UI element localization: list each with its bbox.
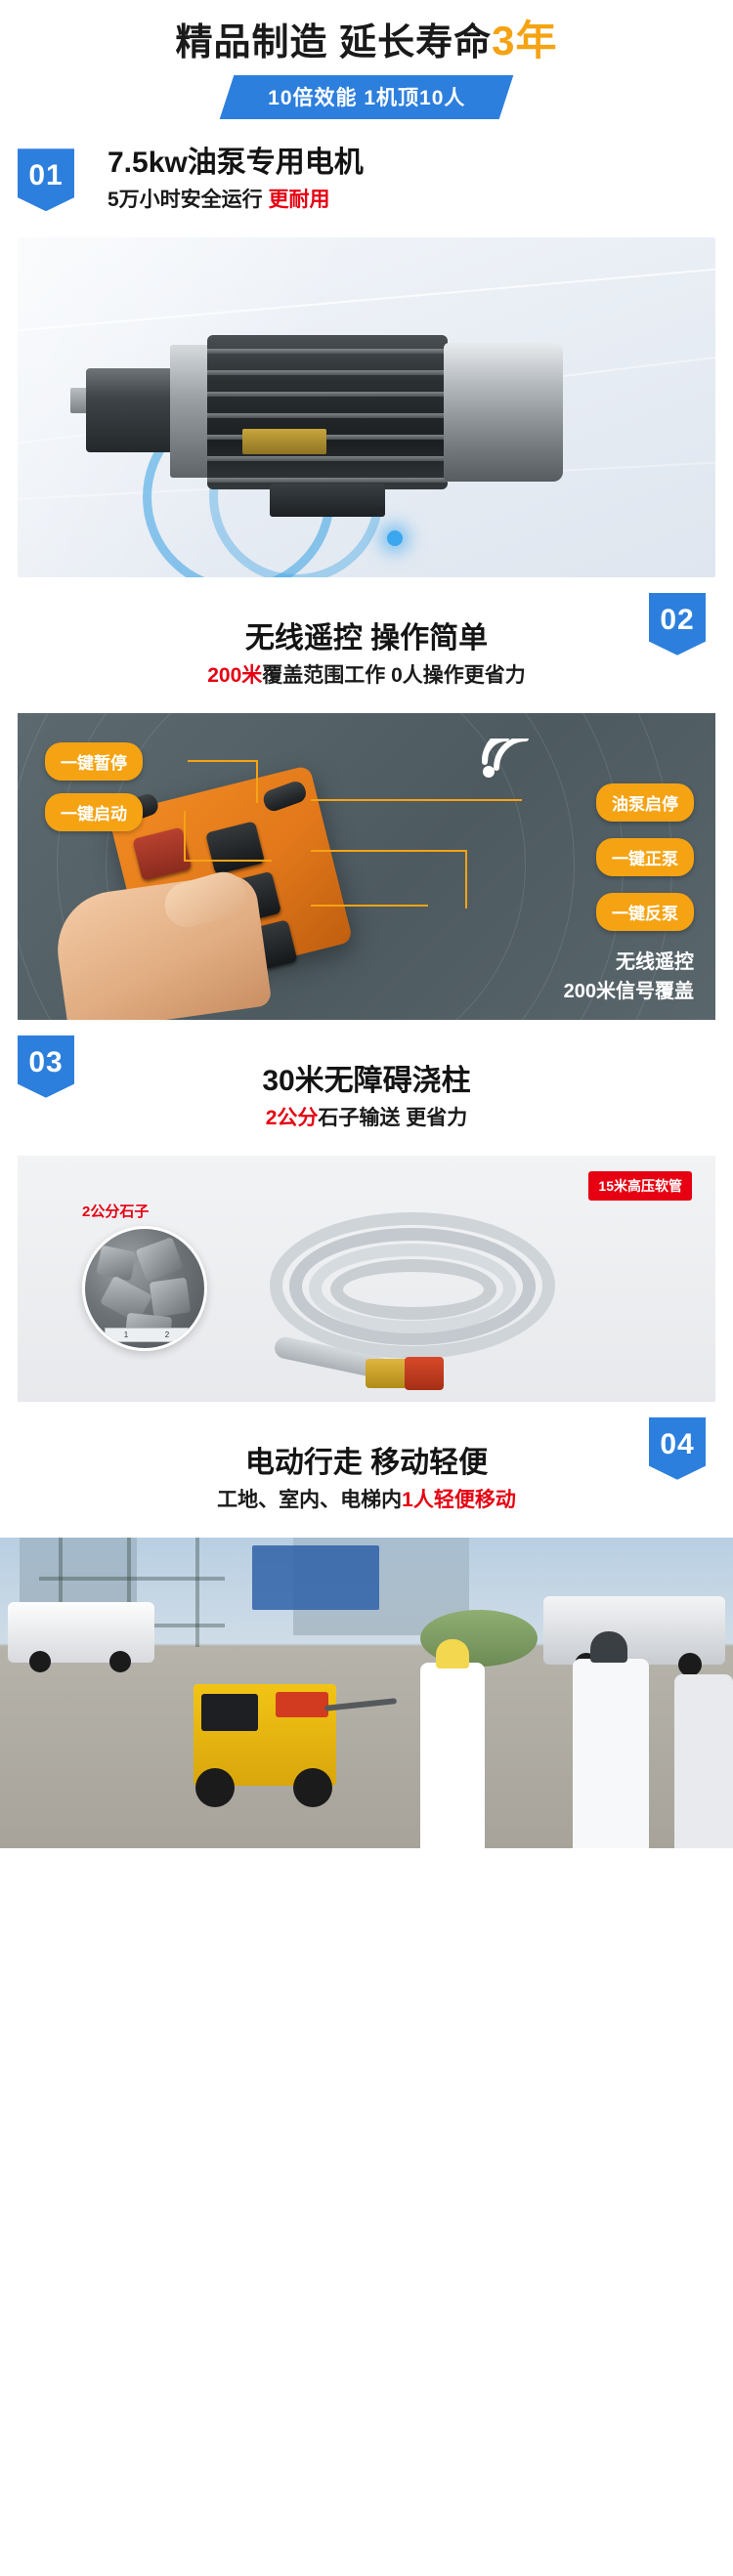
section-03-badge-number: 03 <box>28 1046 63 1079</box>
stone-sample-photo: 1 2 <box>82 1226 207 1351</box>
section-03-badge: 03 <box>18 1035 74 1098</box>
hose-coupling-red <box>405 1357 444 1390</box>
section-01-text: 7.5kw油泵专用电机 5万小时安全运行 更耐用 <box>108 145 364 216</box>
callout-leader-line <box>311 905 428 907</box>
page-header: 精品制造 延长寿命3年 10倍效能 1机顶10人 <box>0 0 733 119</box>
section-04-photo <box>0 1538 733 1848</box>
worker-figure <box>674 1674 733 1848</box>
header-ribbon-label: 10倍效能 1机顶10人 <box>268 82 465 111</box>
header-ribbon: 10倍效能 1机顶10人 <box>220 75 514 119</box>
section-02-title: 无线遥控 操作简单 <box>245 620 488 657</box>
section-03-text: 30米无障碍浇柱 2公分石子输送 更省力 <box>262 1063 470 1134</box>
motor-nameplate <box>242 429 326 454</box>
page-title-main: 精品制造 延长寿命 <box>176 22 493 63</box>
machine-wheel <box>195 1768 235 1807</box>
product-detail-page: 精品制造 延长寿命3年 10倍效能 1机顶10人 01 7.5kw油泵专用电机 … <box>0 0 733 1848</box>
worker-helmet <box>436 1639 469 1668</box>
van-wheel <box>29 1651 51 1672</box>
motor-flange <box>170 345 211 478</box>
section-02: 02 无线遥控 操作简单 200米覆盖范围工作 0人操作更省力 <box>0 595 733 1037</box>
corner-note-line1: 无线遥控 <box>564 948 694 977</box>
section-01-badge-number: 01 <box>28 159 63 192</box>
section-02-head: 02 无线遥控 操作简单 200米覆盖范围工作 0人操作更省力 <box>0 595 733 705</box>
callout-leader-line <box>465 850 467 908</box>
section-02-sub-plain: 覆盖范围工作 0人操作更省力 <box>262 664 526 687</box>
callout-leader-line <box>188 760 258 762</box>
parked-van <box>8 1602 154 1663</box>
section-03-title: 30米无障碍浇柱 <box>262 1063 470 1100</box>
section-02-photo: 一键暂停 一键启动 油泵启停 一键正泵 一键反泵 无线遥控 200米信号覆盖 <box>18 713 715 1020</box>
section-03: 03 30米无障碍浇柱 2公分石子输送 更省力 2公分石子 1 2 <box>0 1037 733 1419</box>
remote-key-pump-toggle[interactable] <box>205 821 265 874</box>
callout-leader-line <box>184 860 272 862</box>
worker-figure <box>420 1663 485 1848</box>
machine-hopper <box>201 1694 258 1731</box>
stone-label: 2公分石子 <box>82 1201 149 1221</box>
section-04: 04 电动行走 移动轻便 工地、室内、电梯内1人轻便移动 <box>0 1419 733 1848</box>
section-04-head: 04 电动行走 移动轻便 工地、室内、电梯内1人轻便移动 <box>0 1419 733 1530</box>
section-04-subtitle: 工地、室内、电梯内1人轻便移动 <box>217 1485 516 1516</box>
antenna-mount-icon <box>261 779 309 814</box>
callout-pump-toggle: 油泵启停 <box>596 783 694 822</box>
section-01-photo <box>18 237 715 577</box>
section-01-subtitle: 5万小时安全运行 更耐用 <box>108 185 364 216</box>
section-02-text: 无线遥控 操作简单 200米覆盖范围工作 0人操作更省力 <box>207 620 526 692</box>
callout-reverse-pump: 一键反泵 <box>596 893 694 931</box>
car-wheel <box>678 1653 702 1676</box>
callout-leader-line <box>311 850 467 852</box>
section-04-text: 电动行走 移动轻便 工地、室内、电梯内1人轻便移动 <box>217 1445 516 1516</box>
ruler-mark: 1 <box>124 1330 128 1339</box>
section-04-sub-highlight: 1人轻便移动 <box>402 1489 516 1511</box>
motor-mount-foot <box>270 484 385 517</box>
section-04-title: 电动行走 移动轻便 <box>245 1445 488 1482</box>
hose-coil <box>330 1259 496 1320</box>
section-02-corner-note: 无线遥控 200米信号覆盖 <box>564 948 694 1006</box>
ruler-scale: 1 2 <box>105 1328 189 1342</box>
callout-forward-pump: 一键正泵 <box>596 838 694 876</box>
section-03-photo: 2公分石子 1 2 15米高压软管 <box>18 1156 715 1402</box>
section-03-subtitle: 2公分石子输送 更省力 <box>266 1103 468 1134</box>
callout-leader-line <box>311 799 522 801</box>
section-01-title: 7.5kw油泵专用电机 <box>108 145 364 182</box>
section-01-sub-plain: 5万小时安全运行 <box>108 189 269 211</box>
callout-leader-line <box>256 760 258 803</box>
header-ribbon-wrap: 10倍效能 1机顶10人 <box>0 75 733 119</box>
section-02-subtitle: 200米覆盖范围工作 0人操作更省力 <box>207 660 526 692</box>
section-04-sub-plain: 工地、室内、电梯内 <box>217 1489 402 1511</box>
callout-leader-line <box>184 811 186 860</box>
machine-motor-cover <box>276 1692 328 1717</box>
wifi-icon <box>481 739 532 780</box>
worker-head <box>590 1631 627 1663</box>
section-03-sub-plain: 石子输送 更省力 <box>318 1107 467 1129</box>
corner-note-line2: 200米信号覆盖 <box>564 977 694 1006</box>
callout-pause: 一键暂停 <box>45 742 143 781</box>
section-01-badge: 01 <box>18 148 74 211</box>
ruler-mark: 2 <box>165 1330 169 1339</box>
page-title: 精品制造 延长寿命3年 <box>0 18 733 65</box>
machine-wheel <box>293 1768 332 1807</box>
worker-figure <box>573 1659 649 1848</box>
status-led-icon <box>387 530 403 546</box>
motor-gearbox <box>86 368 176 452</box>
motor-illustration <box>86 327 575 495</box>
site-signboard <box>252 1545 379 1610</box>
swoosh-line <box>18 265 715 333</box>
hose-length-tag: 15米高压软管 <box>588 1171 692 1201</box>
parked-car <box>543 1596 725 1665</box>
scaffolding-rail <box>39 1577 225 1581</box>
scaffolding-pole <box>195 1538 199 1647</box>
page-title-accent: 3年 <box>492 18 557 63</box>
section-02-badge-number: 02 <box>660 604 694 637</box>
section-02-badge: 02 <box>649 593 706 655</box>
motor-cooling-fins <box>207 335 448 489</box>
section-01: 01 7.5kw油泵专用电机 5万小时安全运行 更耐用 <box>0 119 733 595</box>
section-02-sub-highlight: 200米 <box>207 664 262 687</box>
section-04-badge: 04 <box>649 1417 706 1480</box>
callout-start: 一键启动 <box>45 793 143 831</box>
section-01-sub-highlight: 更耐用 <box>269 189 330 211</box>
section-03-head: 03 30米无障碍浇柱 2公分石子输送 更省力 <box>0 1037 733 1148</box>
van-wheel <box>109 1651 131 1672</box>
section-01-head: 01 7.5kw油泵专用电机 5万小时安全运行 更耐用 <box>0 119 733 230</box>
section-04-badge-number: 04 <box>660 1428 694 1461</box>
section-03-sub-highlight: 2公分 <box>266 1107 319 1129</box>
motor-end-cap <box>444 343 563 482</box>
